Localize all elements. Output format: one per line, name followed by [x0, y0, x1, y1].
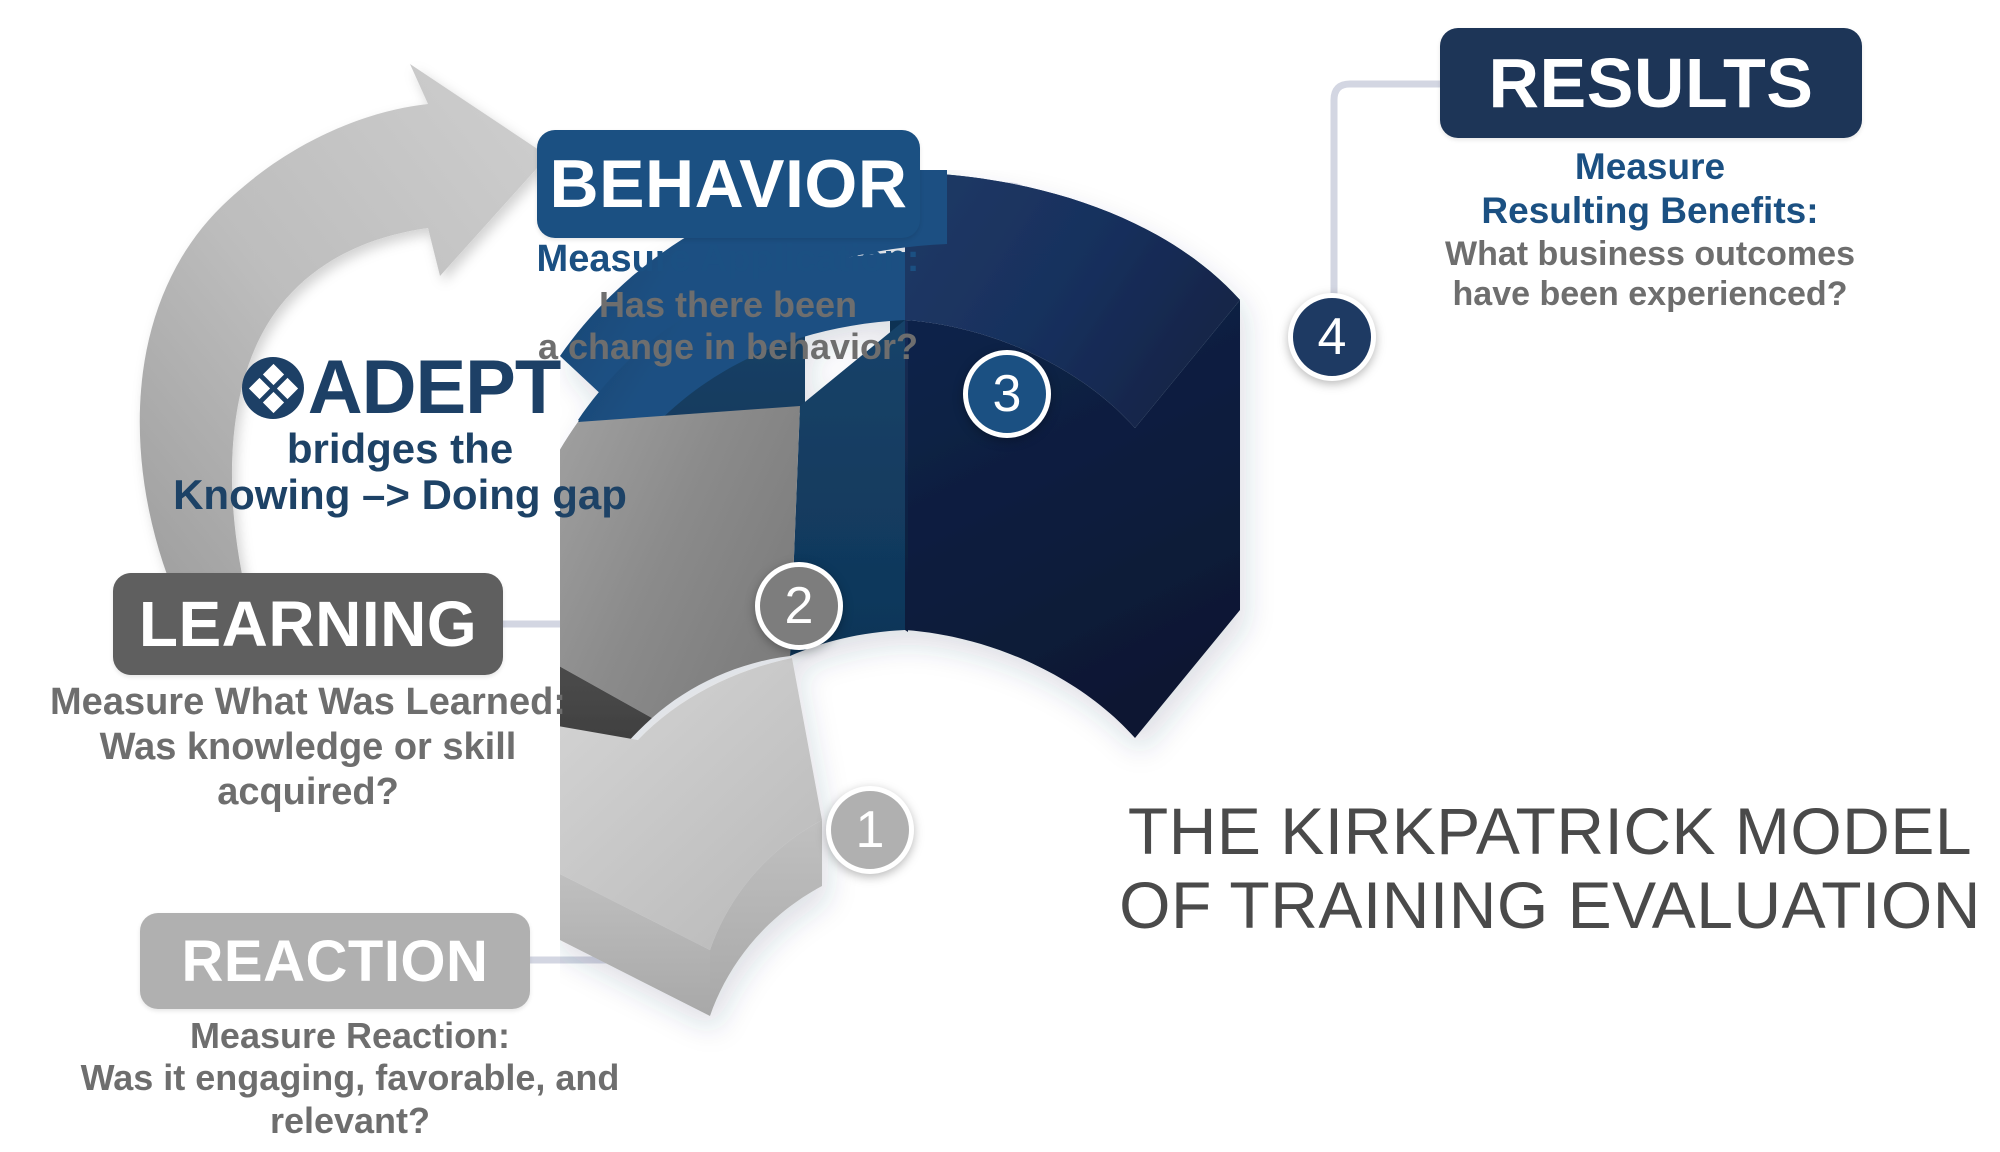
caption-results-sub-1: What business outcomes	[1400, 234, 1900, 274]
segment-number-3[interactable]: 3	[963, 350, 1051, 438]
segment-number-1-label: 1	[856, 800, 885, 860]
badge-reaction[interactable]: REACTION	[140, 913, 530, 1009]
badge-results[interactable]: RESULTS	[1440, 28, 1862, 138]
page-title: THE KIRKPATRICK MODEL OF TRAINING EVALUA…	[1115, 795, 1985, 943]
adept-logo-row: ADEPT	[140, 352, 660, 424]
adept-tagline-1: bridges the	[140, 426, 660, 472]
adept-tagline-2: Knowing –> Doing gap	[140, 472, 660, 518]
segment-number-4-label: 4	[1318, 307, 1347, 367]
adept-branding: ADEPT bridges the Knowing –> Doing gap	[140, 352, 660, 519]
caption-behavior-sub-1: Has there been	[478, 284, 978, 326]
caption-results-strong-2: Resulting Benefits:	[1400, 189, 1900, 233]
segment-number-2-label: 2	[785, 576, 814, 636]
caption-learning: Measure What Was Learned: Was knowledge …	[48, 680, 568, 814]
badge-results-label: RESULTS	[1489, 43, 1814, 123]
badge-behavior-label: BEHAVIOR	[550, 145, 908, 223]
page-title-line-2: OF TRAINING EVALUATION	[1115, 869, 1985, 943]
adept-diamond-logo-icon	[240, 355, 306, 421]
caption-results-strong-1: Measure	[1400, 145, 1900, 189]
badge-learning-label: LEARNING	[139, 587, 477, 661]
caption-results: Measure Resulting Benefits: What busines…	[1400, 145, 1900, 315]
caption-learning-strong: Measure What Was Learned:	[48, 680, 568, 725]
caption-results-sub-2: have been experienced?	[1400, 274, 1900, 314]
badge-behavior[interactable]: BEHAVIOR	[537, 130, 920, 238]
caption-reaction-sub: Was it engaging, favorable, and relevant…	[20, 1057, 680, 1142]
badge-learning[interactable]: LEARNING	[113, 573, 503, 675]
segment-number-1[interactable]: 1	[826, 786, 914, 874]
caption-learning-sub: Was knowledge or skill acquired?	[48, 725, 568, 815]
segment-number-2[interactable]: 2	[755, 562, 843, 650]
page-title-line-1: THE KIRKPATRICK MODEL	[1115, 795, 1985, 869]
infographic-canvas: RESULTS BEHAVIOR LEARNING REACTION Measu…	[0, 0, 2000, 1152]
caption-behavior-strong: Measure Application:	[478, 237, 978, 282]
segment-number-4[interactable]: 4	[1288, 293, 1376, 381]
adept-brand-label: ADEPT	[308, 352, 561, 424]
caption-reaction: Measure Reaction: Was it engaging, favor…	[20, 1015, 680, 1142]
caption-reaction-strong: Measure Reaction:	[20, 1015, 680, 1057]
segment-number-3-label: 3	[993, 364, 1022, 424]
badge-reaction-label: REACTION	[182, 928, 489, 995]
